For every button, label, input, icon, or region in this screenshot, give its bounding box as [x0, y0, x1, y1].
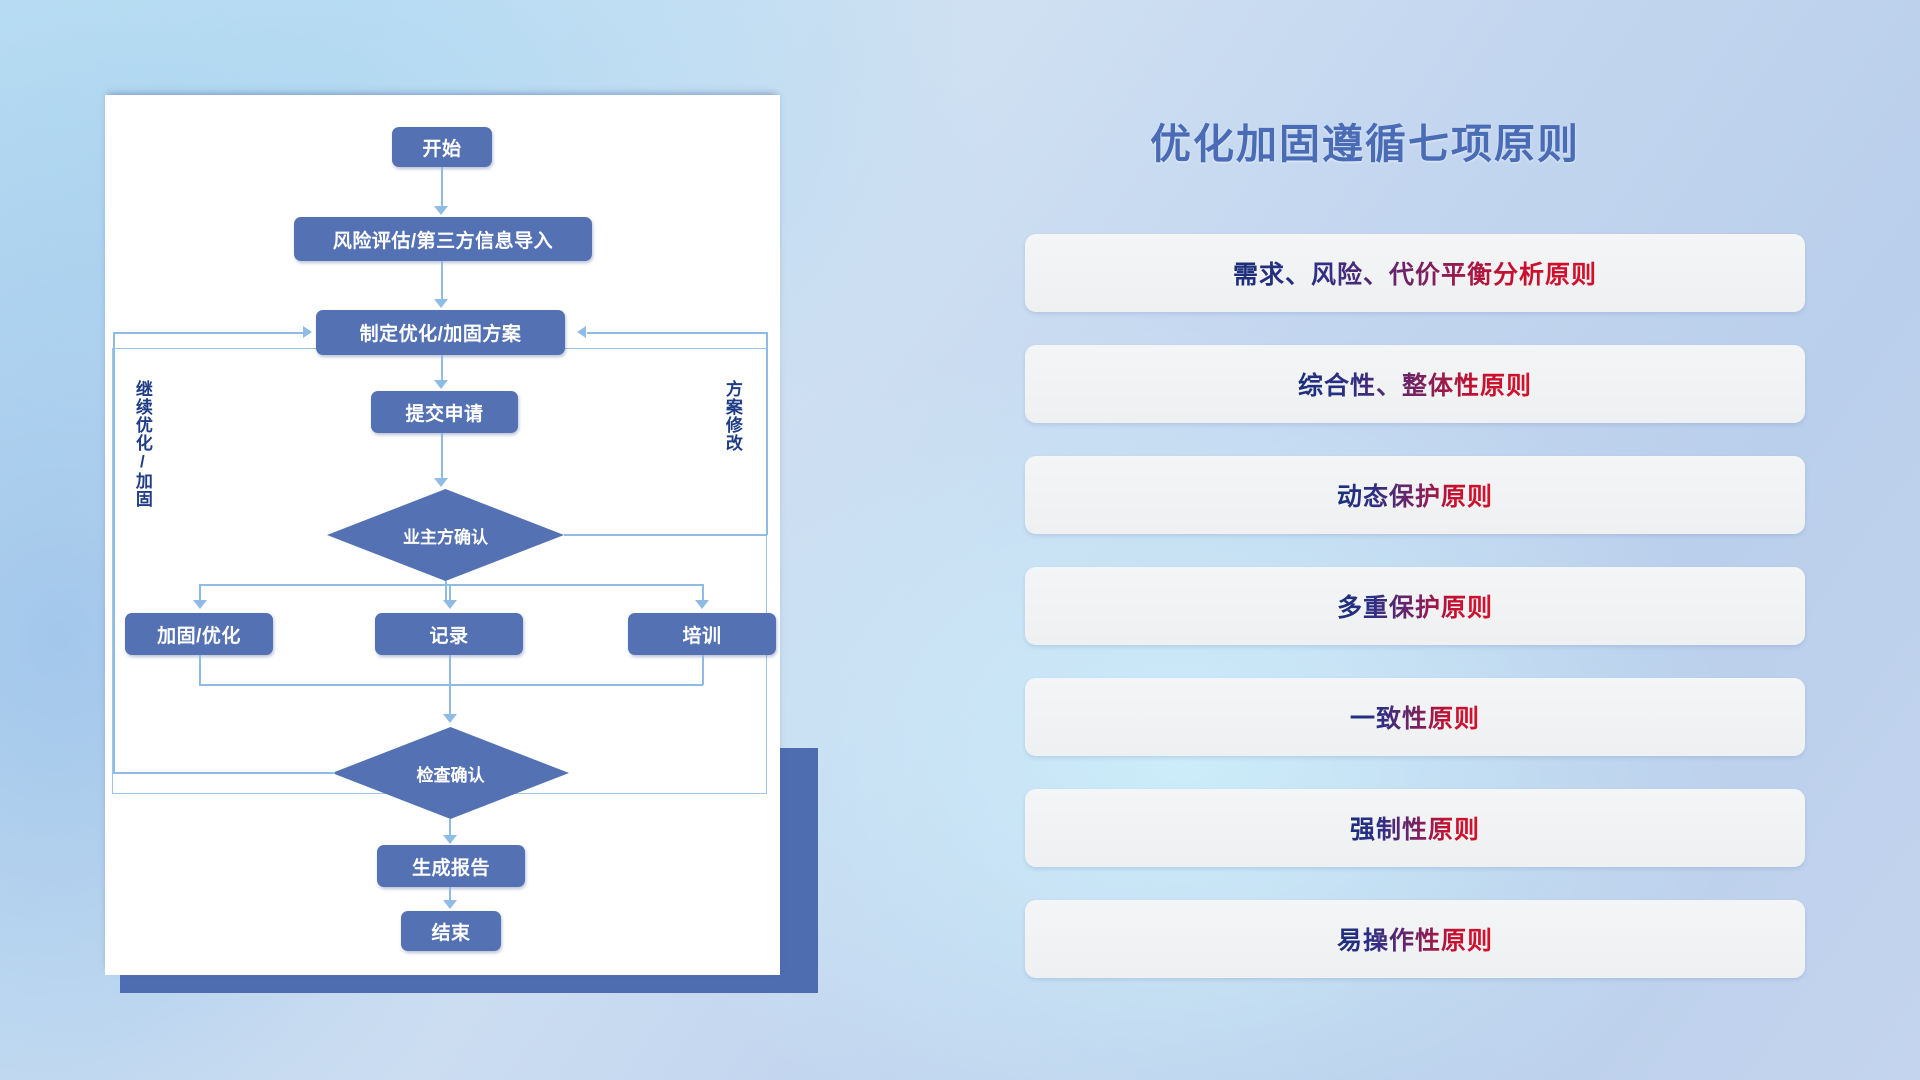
- flow-arrowhead-plan-to-submit: [434, 380, 448, 389]
- principle-card-6-label: 强制性原则: [1350, 810, 1480, 846]
- flow-node-owner-confirm-label: 业主方确认: [403, 523, 488, 548]
- flow-arrowhead-merge-to-inspect: [443, 714, 457, 723]
- flow-node-end[interactable]: 结束: [401, 911, 501, 951]
- principle-card-2-label: 综合性、整体性原则: [1298, 366, 1532, 402]
- principle-card-4-label: 多重保护原则: [1337, 588, 1493, 624]
- flow-connector-left-loop-vertical: [113, 332, 115, 773]
- flow-node-end-label: 结束: [431, 918, 470, 945]
- flow-arrowhead-right-loop-to-plan: [577, 326, 586, 338]
- flow-node-record[interactable]: 记录: [375, 613, 523, 655]
- flow-node-inspection-confirm-label: 检查确认: [417, 761, 485, 786]
- flow-connector-merge-to-inspect: [449, 684, 451, 716]
- flow-connector-risk-to-plan: [441, 261, 443, 301]
- flow-connector-owner-to-right-loop: [564, 534, 767, 536]
- flow-arrowhead-start-to-risk: [434, 206, 448, 215]
- flow-connector-plan-to-submit: [441, 355, 443, 382]
- flow-connector-report-to-end: [449, 887, 451, 901]
- flow-connector-right-loop-vertical: [766, 332, 768, 535]
- flow-node-start-label: 开始: [422, 134, 461, 161]
- flow-connector-merge-bar: [199, 684, 703, 686]
- principle-card-1[interactable]: 需求、风险、代价平衡分析原则: [1025, 234, 1805, 312]
- flow-edge-label-plan-revision: 方案修改: [723, 380, 741, 490]
- principle-card-3-label: 动态保护原则: [1337, 477, 1493, 513]
- flow-connector-training-down: [702, 655, 704, 685]
- principle-card-6[interactable]: 强制性原则: [1025, 789, 1805, 867]
- flow-connector-inspect-to-left-loop: [113, 772, 335, 774]
- flow-connector-record-down: [449, 655, 451, 685]
- flow-node-submit-application[interactable]: 提交申请: [371, 391, 518, 433]
- flow-arrowhead-to-record: [443, 600, 457, 609]
- flow-arrowhead-to-training: [695, 600, 709, 609]
- flow-node-generate-report-label: 生成报告: [412, 853, 490, 880]
- flow-connector-start-to-risk: [441, 167, 443, 208]
- flow-arrowhead-inspect-to-report: [443, 835, 457, 844]
- flow-node-risk-assessment-label: 风险评估/第三方信息导入: [333, 226, 553, 253]
- flow-connector-reinforce-down: [199, 655, 201, 685]
- principle-card-1-label: 需求、风险、代价平衡分析原则: [1233, 255, 1597, 291]
- flow-connector-fanout-bar: [199, 584, 703, 586]
- flowchart-panel: 开始 风险评估/第三方信息导入 制定优化/加固方案 提交申请 业主方确认 加固/…: [105, 95, 780, 975]
- principle-card-2[interactable]: 综合性、整体性原则: [1025, 345, 1805, 423]
- flow-node-reinforce-label: 加固/优化: [157, 621, 241, 648]
- principle-card-7-label: 易操作性原则: [1337, 921, 1493, 957]
- principle-card-5[interactable]: 一致性原则: [1025, 678, 1805, 756]
- principles-panel-title: 优化加固遵循七项原则: [1150, 110, 1580, 170]
- flow-node-training-label: 培训: [682, 621, 721, 648]
- flow-node-plan-label: 制定优化/加固方案: [360, 319, 522, 346]
- flow-arrowhead-report-to-end: [443, 900, 457, 909]
- principles-card-list: 需求、风险、代价平衡分析原则 综合性、整体性原则 动态保护原则 多重保护原则 一…: [1025, 234, 1805, 1011]
- flow-arrowhead-risk-to-plan: [434, 299, 448, 308]
- flow-node-submit-application-label: 提交申请: [405, 399, 483, 426]
- flow-arrowhead-to-reinforce: [193, 600, 207, 609]
- flow-node-start[interactable]: 开始: [392, 127, 492, 167]
- flow-arrowhead-submit-to-owner: [434, 478, 448, 487]
- flow-node-generate-report[interactable]: 生成报告: [377, 845, 525, 887]
- flow-node-training[interactable]: 培训: [628, 613, 776, 655]
- flow-arrowhead-left-loop-to-plan: [303, 326, 312, 338]
- principle-card-7[interactable]: 易操作性原则: [1025, 900, 1805, 978]
- principle-card-3[interactable]: 动态保护原则: [1025, 456, 1805, 534]
- flow-connector-right-loop-horizontal: [587, 332, 767, 334]
- flow-edge-label-continue-optimize: 继续优化/加固: [133, 380, 151, 530]
- flow-node-plan[interactable]: 制定优化/加固方案: [316, 310, 565, 355]
- principle-card-5-label: 一致性原则: [1350, 699, 1480, 735]
- slide-canvas: 开始 风险评估/第三方信息导入 制定优化/加固方案 提交申请 业主方确认 加固/…: [0, 0, 1920, 1080]
- flow-node-record-label: 记录: [429, 621, 468, 648]
- flow-connector-left-loop-horizontal: [113, 332, 303, 334]
- flow-connector-submit-to-owner: [441, 433, 443, 480]
- flow-node-reinforce[interactable]: 加固/优化: [125, 613, 273, 655]
- flow-node-risk-assessment[interactable]: 风险评估/第三方信息导入: [294, 217, 592, 261]
- principle-card-4[interactable]: 多重保护原则: [1025, 567, 1805, 645]
